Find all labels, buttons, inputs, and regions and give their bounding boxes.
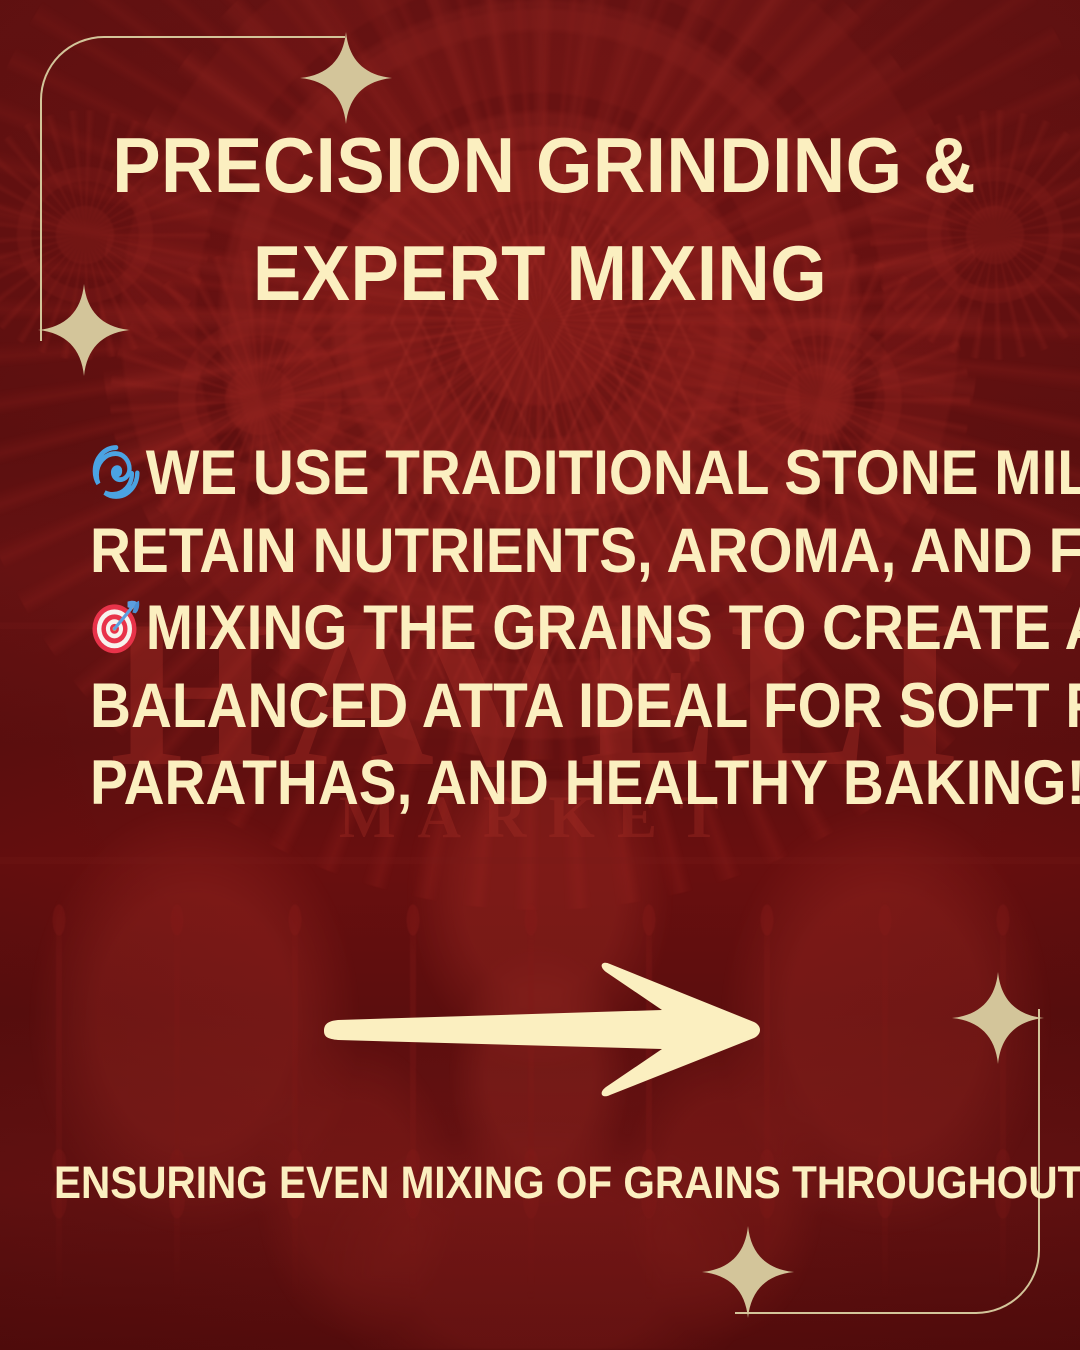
- body-line-1-text: WE USE TRADITIONAL STONE MILLING TO: [146, 438, 1080, 508]
- cyclone-icon: [90, 443, 142, 501]
- body-line-2: RETAIN NUTRIENTS, AROMA, AND FIBER.: [90, 513, 990, 590]
- bullseye-dart-icon: [90, 598, 142, 656]
- body-line-3: MIXING THE GRAINS TO CREATE A PERFECTLY: [90, 590, 990, 667]
- headline-line-2: EXPERT MIXING: [112, 220, 968, 328]
- footer-caption: ENSURING EVEN MIXING OF GRAINS THROUGHOU…: [54, 1158, 1026, 1208]
- right-arrow-icon: [0, 962, 1080, 1097]
- body-line-5: PARATHAS, AND HEALTHY BAKING!: [90, 745, 990, 822]
- poster-content: PRECISION GRINDING & EXPERT MIXING WE US…: [0, 0, 1080, 1350]
- page-title: PRECISION GRINDING & EXPERT MIXING: [112, 112, 968, 327]
- headline-line-1: PRECISION GRINDING &: [112, 112, 968, 220]
- body-line-3-text: MIXING THE GRAINS TO CREATE A PERFECTLY: [146, 593, 1080, 663]
- body-line-4: BALANCED ATTA IDEAL FOR SOFT ROTIS, CRIS…: [90, 668, 990, 745]
- poster-canvas: HAVELI MARKET: [0, 0, 1080, 1350]
- body-line-1: WE USE TRADITIONAL STONE MILLING TO: [90, 435, 990, 512]
- body-copy: WE USE TRADITIONAL STONE MILLING TO RETA…: [90, 435, 990, 822]
